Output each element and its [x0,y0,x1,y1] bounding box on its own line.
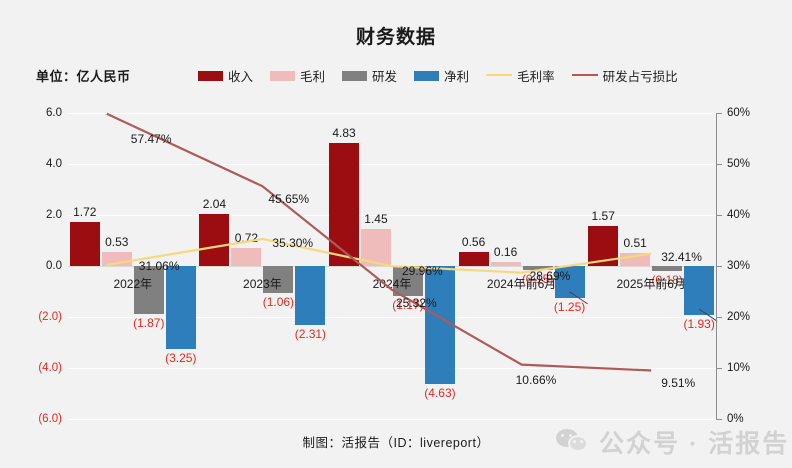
tickmark [716,113,722,114]
gridline [68,419,716,420]
page-title: 财务数据 [0,22,792,49]
tickmark [716,215,722,216]
chart-legend: 收入毛利研发净利毛利率研发占亏损比 [198,66,678,85]
y-axis-right-tick-label: 30% [727,260,750,272]
line-value-label: 9.51% [661,376,695,390]
y-axis-left-tick: 4.0 [46,158,62,170]
legend-item-1[interactable]: 收入 [198,66,253,85]
legend-item-6[interactable]: 研发占亏损比 [572,66,678,85]
legend-label: 研发占亏损比 [603,66,678,85]
tickmark [716,368,722,369]
legend-item-2[interactable]: 毛利 [270,66,325,85]
legend-label: 毛利率 [517,66,555,85]
legend-swatch-1 [198,71,223,81]
legend-item-5[interactable]: 毛利率 [486,66,555,85]
line-extension [107,114,133,126]
label-leader-line [699,309,717,321]
y-axis-right: 60%50%40%30%20%10%0% [716,113,792,419]
y-axis-right-tick: 10% [716,362,750,374]
watermark: 公众号 · 活报告 [556,424,789,460]
legend-item-4[interactable]: 净利 [414,66,469,85]
legend-swatch-5 [486,74,512,76]
line-value-label: 45.65% [268,192,309,206]
y-axis-left-tick: 6.0 [46,107,62,119]
y-axis-right-tick: 30% [716,260,750,272]
y-axis-right-tick-label: 60% [727,107,750,119]
y-axis-left-tick: (2.0) [38,311,62,323]
y-axis-left-tick: 0.0 [46,260,62,272]
unit-label: 单位：亿人民币 [36,66,131,85]
tickmark [716,317,722,318]
legend-item-3[interactable]: 研发 [342,66,397,85]
y-axis-right-tick: 50% [716,158,750,170]
legend-label: 研发 [372,66,397,85]
wechat-icon [556,428,590,456]
y-axis-right-tick: 20% [716,311,750,323]
line-value-label: 31.06% [139,259,180,273]
y-axis-left: 6.04.02.00.0(2.0)(4.0)(6.0) [0,113,62,419]
line-毛利率[interactable] [133,239,651,273]
y-axis-right-tick-label: 50% [727,158,750,170]
line-value-label: 25.32% [396,296,437,310]
tickmark [716,419,722,420]
line-extension [107,261,133,265]
legend-label: 毛利 [300,66,325,85]
tickmark [716,266,722,267]
line-value-label: 28.69% [530,269,571,283]
legend-swatch-6 [572,74,598,76]
line-value-label: 29.96% [402,264,443,278]
y-axis-right-tick: 60% [716,107,750,119]
y-axis-right-tick: 40% [716,209,750,221]
line-value-label: 10.66% [516,373,557,387]
tickmark [716,164,722,165]
y-axis-left-tick: (4.0) [38,362,62,374]
legend-label: 净利 [444,66,469,85]
line-value-label: 57.47% [131,132,172,146]
y-axis-right-tick-label: 20% [727,311,750,323]
legend-label: 收入 [228,66,253,85]
y-axis-right-tick-label: 40% [727,209,750,221]
watermark-text: 公众号 · 活报告 [599,424,789,460]
label-leader-line [570,292,588,304]
y-axis-right-tick-label: 10% [727,362,750,374]
line-value-label: 32.41% [661,250,702,264]
legend-swatch-3 [342,71,367,81]
financial-chart: 财务数据 单位：亿人民币 收入毛利研发净利毛利率研发占亏损比 6.04.02.0… [0,0,792,468]
y-axis-left-tick: (6.0) [38,413,62,425]
legend-swatch-2 [270,71,295,81]
line-value-label: 35.30% [272,236,313,250]
plot-area: 1.720.53(1.87)(3.25)2022年2.040.72(1.06)(… [68,113,716,419]
legend-swatch-4 [414,71,439,81]
